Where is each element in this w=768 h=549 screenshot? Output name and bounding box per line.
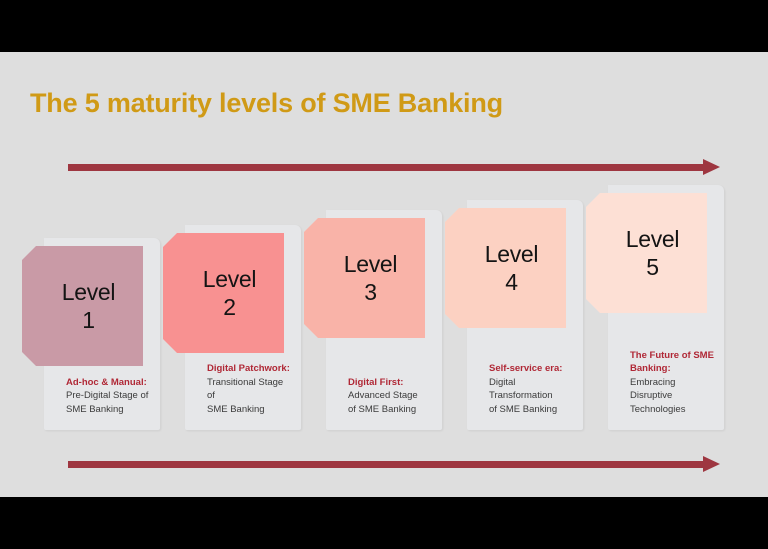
level-description-line-1: Transitional Stage of	[207, 376, 293, 403]
level-number: 4	[457, 268, 566, 296]
level-tag-label: Level4	[445, 240, 566, 296]
level-description-line-1: Advanced Stage	[348, 389, 434, 402]
level-number: 2	[175, 293, 284, 321]
progression-arrow-bottom	[68, 455, 720, 473]
level-description-line-2: of SME Banking	[348, 403, 434, 416]
level-description-heading: Digital First:	[348, 376, 434, 389]
level-tag-label: Level2	[163, 265, 284, 321]
level-description: Digital Patchwork:Transitional Stage ofS…	[207, 362, 293, 416]
level-tag: Level3	[304, 218, 425, 338]
maturity-level-card-4[interactable]: Level4Self-service era:Digital Transform…	[445, 200, 583, 430]
maturity-level-cards: Level1Ad-hoc & Manual:Pre-Digital Stage …	[0, 52, 768, 497]
level-description-line-1: Digital Transformation	[489, 376, 575, 403]
level-tag: Level4	[445, 208, 566, 328]
level-tag-label: Level1	[22, 278, 143, 334]
level-description-heading: Digital Patchwork:	[207, 362, 293, 375]
level-tag-label: Level5	[586, 225, 707, 281]
level-word: Level	[203, 266, 257, 292]
level-description-heading: Self-service era:	[489, 362, 575, 375]
level-description: Ad-hoc & Manual:Pre-Digital Stage ofSME …	[66, 376, 152, 416]
maturity-level-card-5[interactable]: Level5The Future of SME Banking:Embracin…	[586, 185, 724, 430]
level-word: Level	[485, 241, 539, 267]
level-description-line-1: Pre-Digital Stage of	[66, 389, 152, 402]
arrow-head-icon	[703, 456, 720, 472]
level-description-heading: The Future of SME Banking:	[630, 349, 716, 376]
level-description-line-2: Technologies	[630, 403, 716, 416]
level-description-line-2: of SME Banking	[489, 403, 575, 416]
level-description-line-2: SME Banking	[66, 403, 152, 416]
level-word: Level	[344, 251, 398, 277]
level-number: 1	[34, 306, 143, 334]
level-tag: Level1	[22, 246, 143, 366]
level-description: Self-service era:Digital Transformationo…	[489, 362, 575, 416]
level-tag: Level2	[163, 233, 284, 353]
level-description: The Future of SME Banking:Embracing Disr…	[630, 349, 716, 416]
level-number: 3	[316, 278, 425, 306]
level-word: Level	[62, 279, 116, 305]
maturity-level-card-1[interactable]: Level1Ad-hoc & Manual:Pre-Digital Stage …	[22, 238, 160, 430]
arrow-shaft	[68, 461, 704, 468]
level-tag: Level5	[586, 193, 707, 313]
slide-canvas: The 5 maturity levels of SME Banking Lev…	[0, 52, 768, 497]
level-description-line-2: SME Banking	[207, 403, 293, 416]
level-description: Digital First:Advanced Stageof SME Banki…	[348, 376, 434, 416]
maturity-level-card-3[interactable]: Level3Digital First:Advanced Stageof SME…	[304, 210, 442, 430]
level-number: 5	[598, 253, 707, 281]
level-tag-label: Level3	[304, 250, 425, 306]
level-word: Level	[626, 226, 680, 252]
maturity-level-card-2[interactable]: Level2Digital Patchwork:Transitional Sta…	[163, 225, 301, 430]
level-description-heading: Ad-hoc & Manual:	[66, 376, 152, 389]
level-description-line-1: Embracing Disruptive	[630, 376, 716, 403]
